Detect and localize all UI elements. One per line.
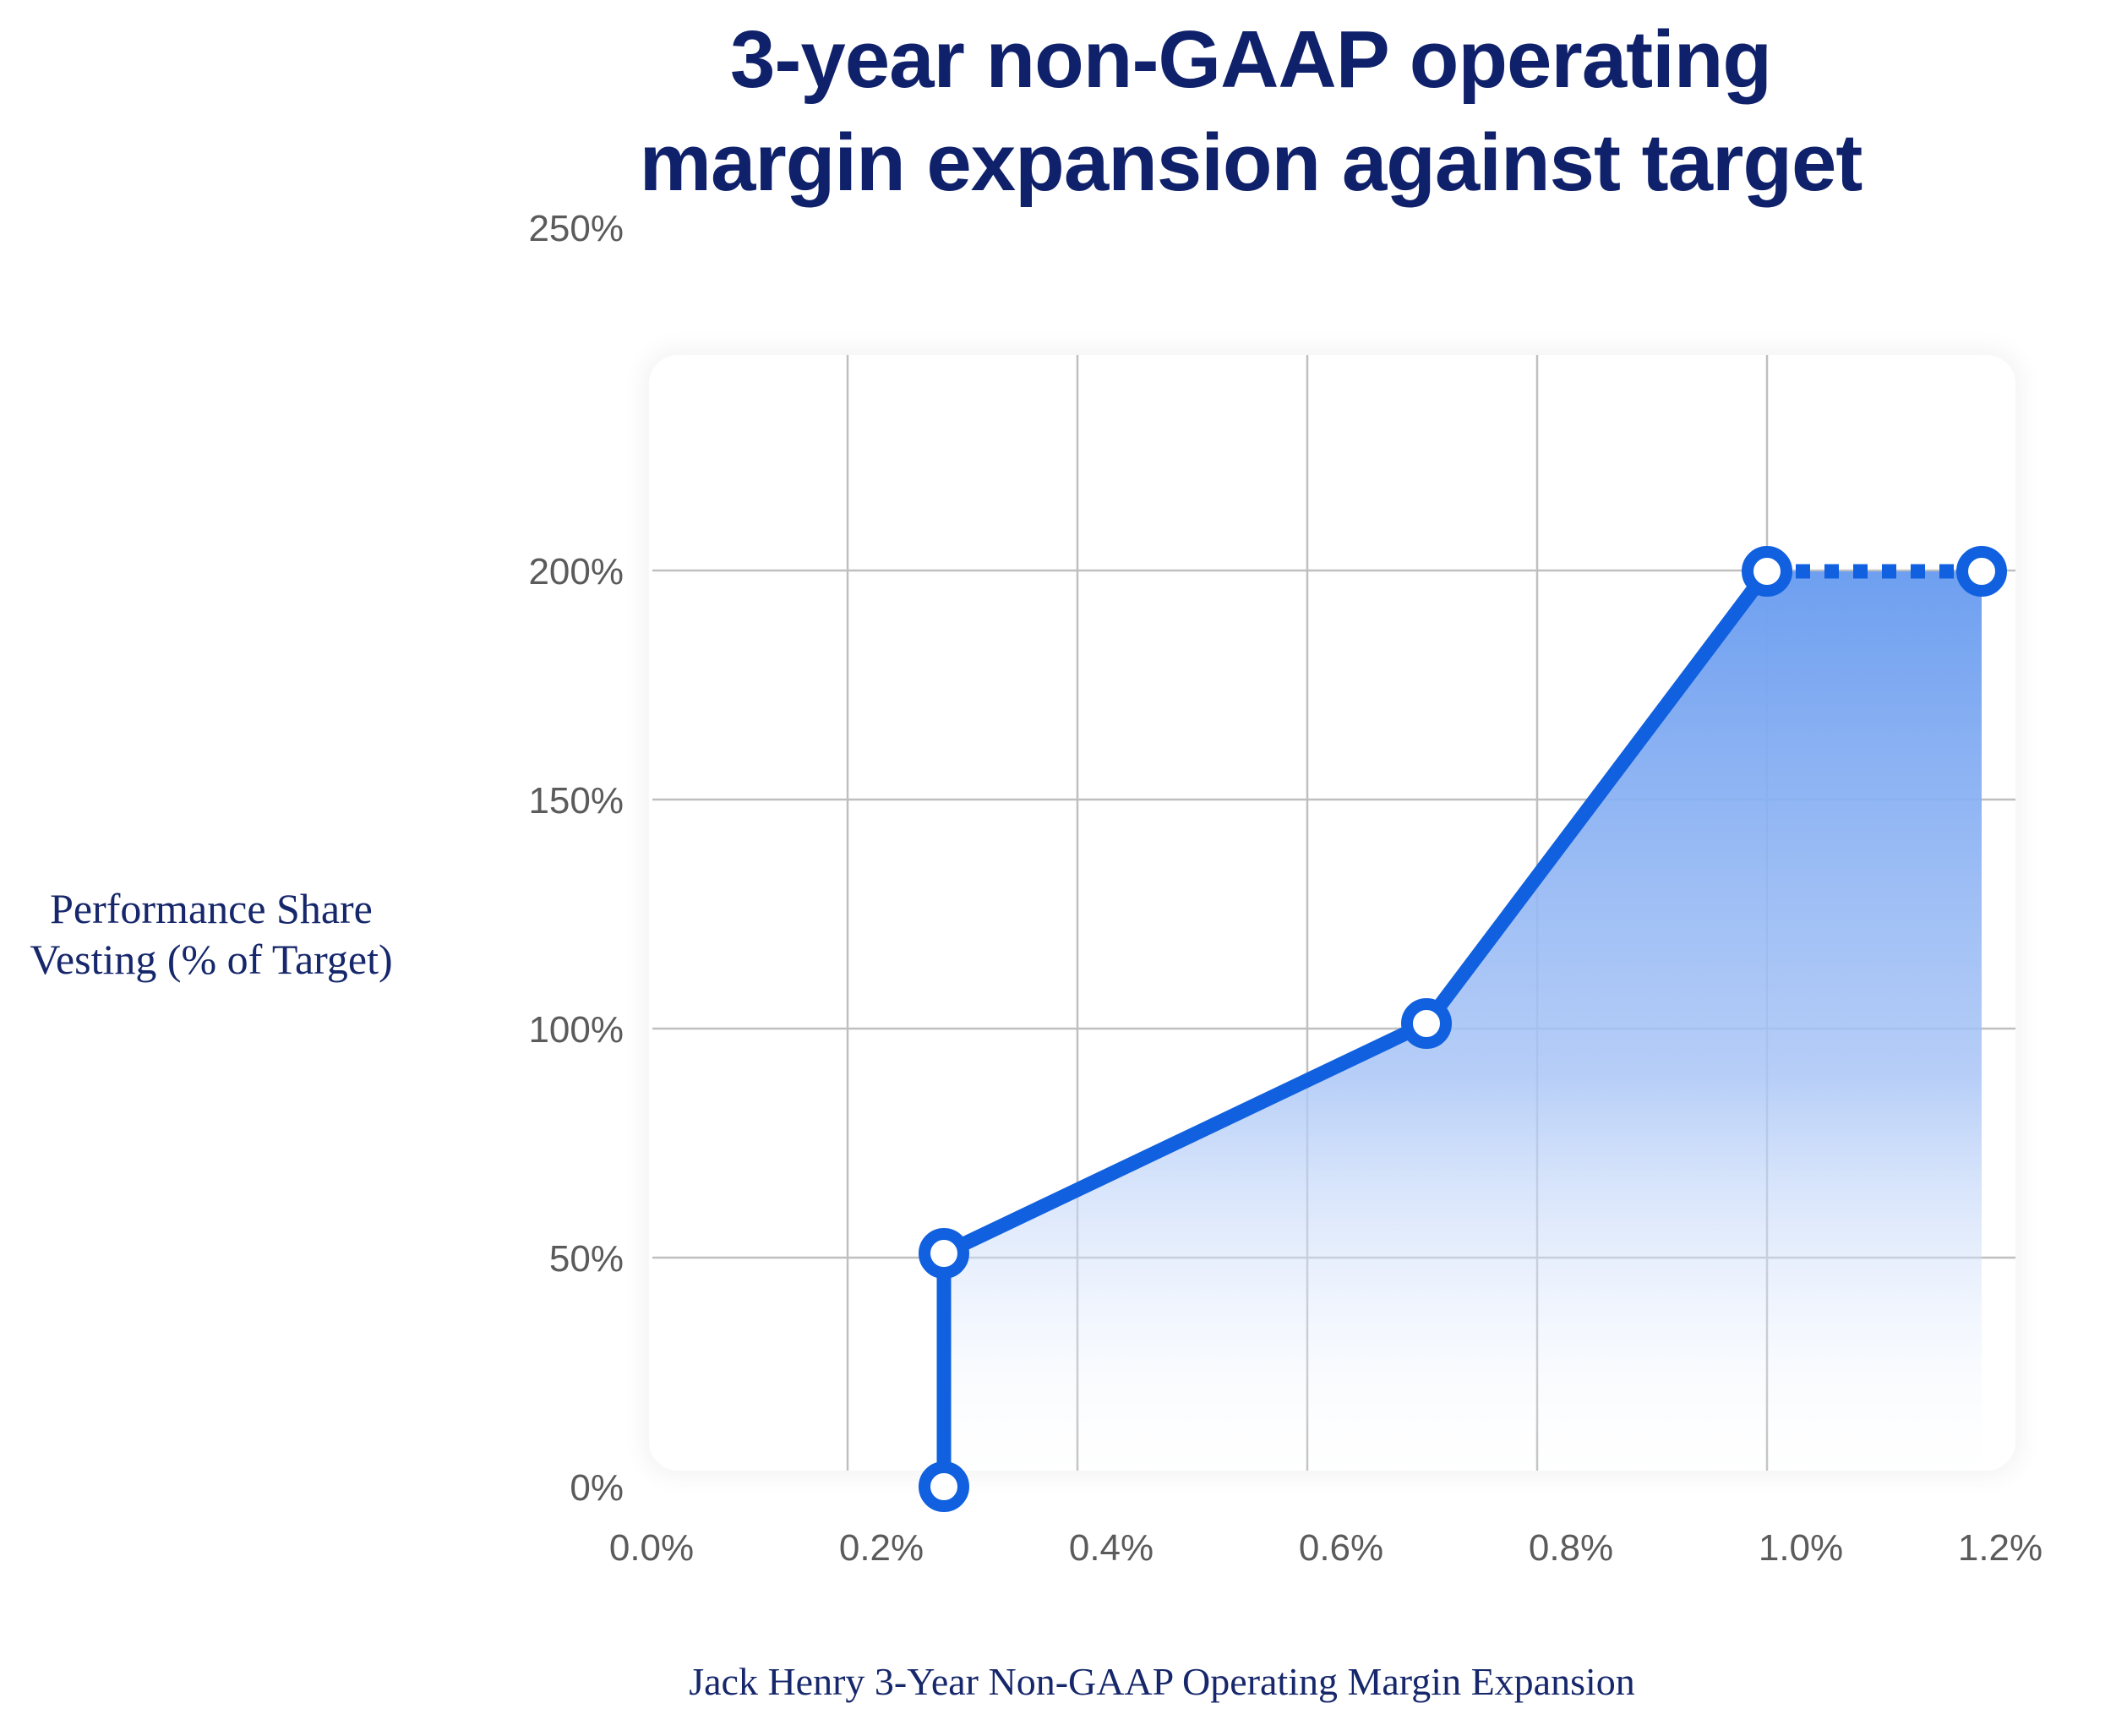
x-axis-caption: Jack Henry 3-Year Non-GAAP Operating Mar… xyxy=(380,1659,1944,1704)
y-axis-title-line-2: Vesting (% of Target) xyxy=(8,934,414,985)
page-title-line-2: margin expansion against target xyxy=(423,112,2079,215)
y-tick-label-150: 150% xyxy=(429,780,624,822)
y-axis-title: Performance Share Vesting (% of Target) xyxy=(8,883,414,985)
x-tick-label-08: 0.8% xyxy=(1478,1527,1664,1569)
chart-page: 3-year non-GAAP operating margin expansi… xyxy=(0,0,2127,1736)
data-point-marker[interactable] xyxy=(924,1467,963,1506)
x-tick-label-02: 0.2% xyxy=(788,1527,974,1569)
plot-area-card xyxy=(649,355,2015,1471)
page-title: 3-year non-GAAP operating margin expansi… xyxy=(423,8,2079,215)
page-title-line-1: 3-year non-GAAP operating xyxy=(423,8,2079,112)
y-tick-label-50: 50% xyxy=(429,1238,624,1280)
y-tick-label-250: 250% xyxy=(429,208,624,250)
x-tick-label-04: 0.4% xyxy=(1018,1527,1204,1569)
y-tick-label-0: 0% xyxy=(429,1467,624,1509)
x-tick-label-06: 0.6% xyxy=(1248,1527,1434,1569)
y-tick-label-100: 100% xyxy=(429,1009,624,1051)
y-tick-label-200: 200% xyxy=(429,551,624,593)
x-tick-label-10: 1.0% xyxy=(1708,1527,1894,1569)
y-axis-title-line-1: Performance Share xyxy=(8,883,414,934)
x-tick-label-0: 0.0% xyxy=(559,1527,744,1569)
x-tick-label-12: 1.2% xyxy=(1907,1527,2093,1569)
